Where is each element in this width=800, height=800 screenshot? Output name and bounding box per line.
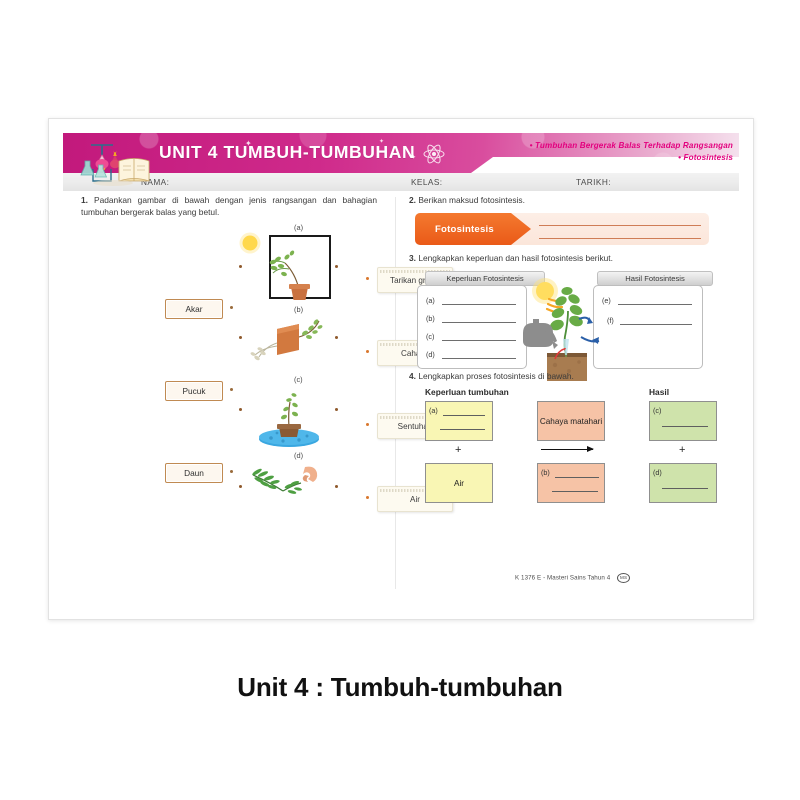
label-box-daun-text: Daun xyxy=(184,468,204,478)
answer-line-3a[interactable] xyxy=(442,304,516,305)
atom-icon xyxy=(421,143,447,165)
field-label-kelas: KELAS: xyxy=(411,177,442,187)
heading-hasil-fotosintesis-text: Hasil Fotosintesis xyxy=(625,274,685,283)
connector-dot-pucuk[interactable] xyxy=(230,388,233,391)
plant-gravitropism-illustration xyxy=(243,313,335,369)
answer-line-3c[interactable] xyxy=(442,340,516,341)
question-1: 1. Padankan gambar di bawah dengan jenis… xyxy=(81,195,377,218)
process-box-d-tag: (d) xyxy=(653,467,662,478)
sparkle-icon: ✦ xyxy=(411,155,416,161)
column-heading-hasil: Hasil xyxy=(649,387,669,397)
process-box-air-label: Air xyxy=(454,478,464,489)
process-box-cahaya-matahari[interactable]: Cahaya matahari xyxy=(537,401,605,441)
process-arrow xyxy=(541,449,593,450)
question-4-text: Lengkapkan proses fotosintesis di bawah. xyxy=(418,371,574,381)
answer-tag-f: (f) xyxy=(607,316,614,325)
connector-dot-note-4[interactable] xyxy=(366,496,369,499)
publisher-logo: MS xyxy=(617,573,630,583)
connector-dot-picture-d-left[interactable] xyxy=(239,485,242,488)
plant-hydrotropism-illustration xyxy=(243,383,335,447)
answer-tag-c: (c) xyxy=(426,332,434,341)
worksheet-page: UNIT 4 TUMBUH-TUMBUHAN ✦ ✦ ✦ • Tumbuhan … xyxy=(48,118,754,620)
process-line-b-2[interactable] xyxy=(552,491,598,492)
process-box-a-tag: (a) xyxy=(429,405,438,416)
label-box-daun[interactable]: Daun xyxy=(165,463,223,483)
connector-dot-picture-b-right[interactable] xyxy=(335,336,338,339)
page-title: UNIT 4 TUMBUH-TUMBUHAN xyxy=(159,142,415,163)
connector-dot-picture-c-left[interactable] xyxy=(239,408,242,411)
box-hasil-fotosintesis: (e) (f) xyxy=(593,285,703,369)
question-3-number: 3. xyxy=(409,253,416,263)
left-column: 1. Padankan gambar di bawah dengan jenis… xyxy=(67,195,389,595)
box-keperluan-fotosintesis: (a) (b) (c) (d) xyxy=(417,285,527,369)
process-line-b-1[interactable] xyxy=(555,477,599,478)
column-heading-keperluan-tumbuhan: Keperluan tumbuhan xyxy=(425,387,509,397)
question-3-text: Lengkapkan keperluan dan hasil fotosinte… xyxy=(418,253,613,263)
answer-line-3d[interactable] xyxy=(442,358,516,359)
header-topic-1: • Tumbuhan Bergerak Balas Terhadap Rangs… xyxy=(471,140,733,152)
process-line-d-1[interactable] xyxy=(662,488,708,489)
label-box-pucuk-text: Pucuk xyxy=(182,386,205,396)
process-line-c-1[interactable] xyxy=(662,426,708,427)
process-box-b[interactable]: (b) xyxy=(537,463,605,503)
process-line-a-2[interactable] xyxy=(440,429,485,430)
label-box-akar-text: Akar xyxy=(185,304,202,314)
operator-plus-1: + xyxy=(455,444,461,456)
process-box-a[interactable]: (a) xyxy=(425,401,493,441)
label-box-akar[interactable]: Akar xyxy=(165,299,223,319)
worksheet-header: UNIT 4 TUMBUH-TUMBUHAN ✦ ✦ ✦ • Tumbuhan … xyxy=(63,133,739,191)
answer-line-q2-2[interactable] xyxy=(539,238,701,239)
footer-code: K 1376 E - Masteri Sains Tahun 4 xyxy=(515,575,610,582)
connector-dot-daun[interactable] xyxy=(230,470,233,473)
heading-keperluan-fotosintesis-text: Keperluan Fotosintesis xyxy=(446,274,523,283)
process-box-c[interactable]: (c) xyxy=(649,401,717,441)
heading-hasil-fotosintesis: Hasil Fotosintesis xyxy=(597,271,713,286)
worksheet-footer: K 1376 E - Masteri Sains Tahun 4 MS xyxy=(515,573,630,583)
question-1-number: 1. xyxy=(81,195,88,205)
question-3: 3. Lengkapkan keperluan dan hasil fotosi… xyxy=(409,253,719,265)
answer-line-3b[interactable] xyxy=(442,322,516,323)
question-2: 2. Berikan maksud fotosintesis. xyxy=(409,195,719,207)
connector-dot-akar[interactable] xyxy=(230,306,233,309)
connector-dot-note-1[interactable] xyxy=(366,277,369,280)
plant-thigmotropism-illustration xyxy=(243,461,335,505)
answer-tag-e: (e) xyxy=(602,296,611,305)
image-caption: Unit 4 : Tumbuh-tumbuhan xyxy=(0,672,800,703)
process-line-a-1[interactable] xyxy=(443,415,485,416)
answer-line-3f[interactable] xyxy=(620,324,692,325)
answer-tag-b: (b) xyxy=(426,314,435,323)
process-box-cahaya-matahari-label: Cahaya matahari xyxy=(540,416,602,427)
fotosintesis-definition-banner: Fotosintesis xyxy=(415,213,709,245)
connector-dot-note-2[interactable] xyxy=(366,350,369,353)
header-topic-list: • Tumbuhan Bergerak Balas Terhadap Rangs… xyxy=(471,140,733,164)
connector-dot-picture-d-right[interactable] xyxy=(335,485,338,488)
right-column: 2. Berikan maksud fotosintesis. Fotosint… xyxy=(401,195,735,599)
question-2-number: 2. xyxy=(409,195,416,205)
answer-tag-d: (d) xyxy=(426,350,435,359)
connector-dot-picture-c-right[interactable] xyxy=(335,408,338,411)
process-box-c-tag: (c) xyxy=(653,405,661,416)
process-box-air[interactable]: Air xyxy=(425,463,493,503)
fotosintesis-tag-label: Fotosintesis xyxy=(435,224,494,235)
sparkle-icon: ✦ xyxy=(245,140,252,148)
answer-line-3e[interactable] xyxy=(618,304,692,305)
question-2-text: Berikan maksud fotosintesis. xyxy=(418,195,525,205)
header-topic-2: • Fotosintesis xyxy=(471,152,733,164)
plant-phototropism-illustration xyxy=(237,231,333,303)
worksheet-sheet: UNIT 4 TUMBUH-TUMBUHAN ✦ ✦ ✦ • Tumbuhan … xyxy=(63,133,739,605)
operator-plus-2: + xyxy=(679,444,685,456)
science-lab-illustration xyxy=(69,133,161,189)
answer-line-q2-1[interactable] xyxy=(539,225,701,226)
connector-dot-note-3[interactable] xyxy=(366,423,369,426)
question-4-number: 4. xyxy=(409,371,416,381)
column-divider xyxy=(395,197,396,589)
connector-dot-picture-b-left[interactable] xyxy=(239,336,242,339)
question-1-text: Padankan gambar di bawah dengan jenis ra… xyxy=(81,195,377,217)
screenshot-root: UNIT 4 TUMBUH-TUMBUHAN ✦ ✦ ✦ • Tumbuhan … xyxy=(0,0,800,800)
matching-activity: Akar Pucuk Daun (a) xyxy=(67,223,389,543)
process-box-d[interactable]: (d) xyxy=(649,463,717,503)
answer-tag-a: (a) xyxy=(426,296,435,305)
sparkle-icon: ✦ xyxy=(379,139,384,145)
picture-caption-d: (d) xyxy=(294,451,303,460)
fotosintesis-tag: Fotosintesis xyxy=(415,213,531,245)
student-fields-row: NAMA: KELAS: TARIKH: xyxy=(63,173,739,191)
field-label-tarikh: TARIKH: xyxy=(576,177,611,187)
process-box-b-tag: (b) xyxy=(541,467,550,478)
connector-dot-picture-a-right[interactable] xyxy=(335,265,338,268)
label-box-pucuk[interactable]: Pucuk xyxy=(165,381,223,401)
photosynthesis-illustration xyxy=(519,277,601,383)
